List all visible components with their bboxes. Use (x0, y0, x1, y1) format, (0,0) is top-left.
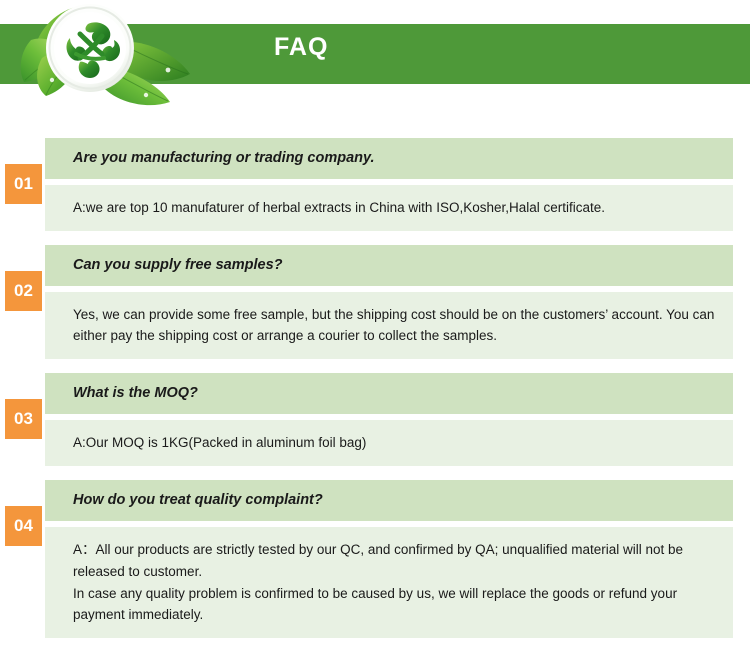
faq-question: What is the MOQ? (45, 373, 733, 414)
faq-item: 01 Are you manufacturing or trading comp… (0, 138, 750, 231)
faq-number-badge: 04 (5, 506, 42, 546)
faq-answer: A:we are top 10 manufaturer of herbal ex… (45, 185, 733, 231)
faq-list: 01 Are you manufacturing or trading comp… (0, 138, 750, 652)
faq-number-badge: 03 (5, 399, 42, 439)
faq-item: 02 Can you supply free samples? Yes, we … (0, 245, 750, 360)
faq-answer-line: In case any quality problem is confirmed… (73, 583, 717, 627)
company-logo (18, 0, 228, 112)
leaf-emblem-icon (18, 0, 228, 112)
faq-answer: A:Our MOQ is 1KG(Packed in aluminum foil… (45, 420, 733, 466)
faq-question: How do you treat quality complaint? (45, 480, 733, 521)
faq-item: 04 How do you treat quality complaint? A… (0, 480, 750, 638)
faq-answer-line: Yes, we can provide some free sample, bu… (73, 304, 717, 348)
faq-question: Are you manufacturing or trading company… (45, 138, 733, 179)
faq-number-badge: 02 (5, 271, 42, 311)
faq-answer: Yes, we can provide some free sample, bu… (45, 292, 733, 360)
page-title: FAQ (274, 35, 328, 60)
faq-question: Can you supply free samples? (45, 245, 733, 286)
faq-item: 03 What is the MOQ? A:Our MOQ is 1KG(Pac… (0, 373, 750, 466)
faq-answer-line: A：All our products are strictly tested b… (73, 539, 717, 583)
faq-answer-line: A:we are top 10 manufaturer of herbal ex… (73, 197, 717, 219)
faq-number-badge: 01 (5, 164, 42, 204)
faq-answer-line: A:Our MOQ is 1KG(Packed in aluminum foil… (73, 432, 717, 454)
faq-answer: A：All our products are strictly tested b… (45, 527, 733, 638)
